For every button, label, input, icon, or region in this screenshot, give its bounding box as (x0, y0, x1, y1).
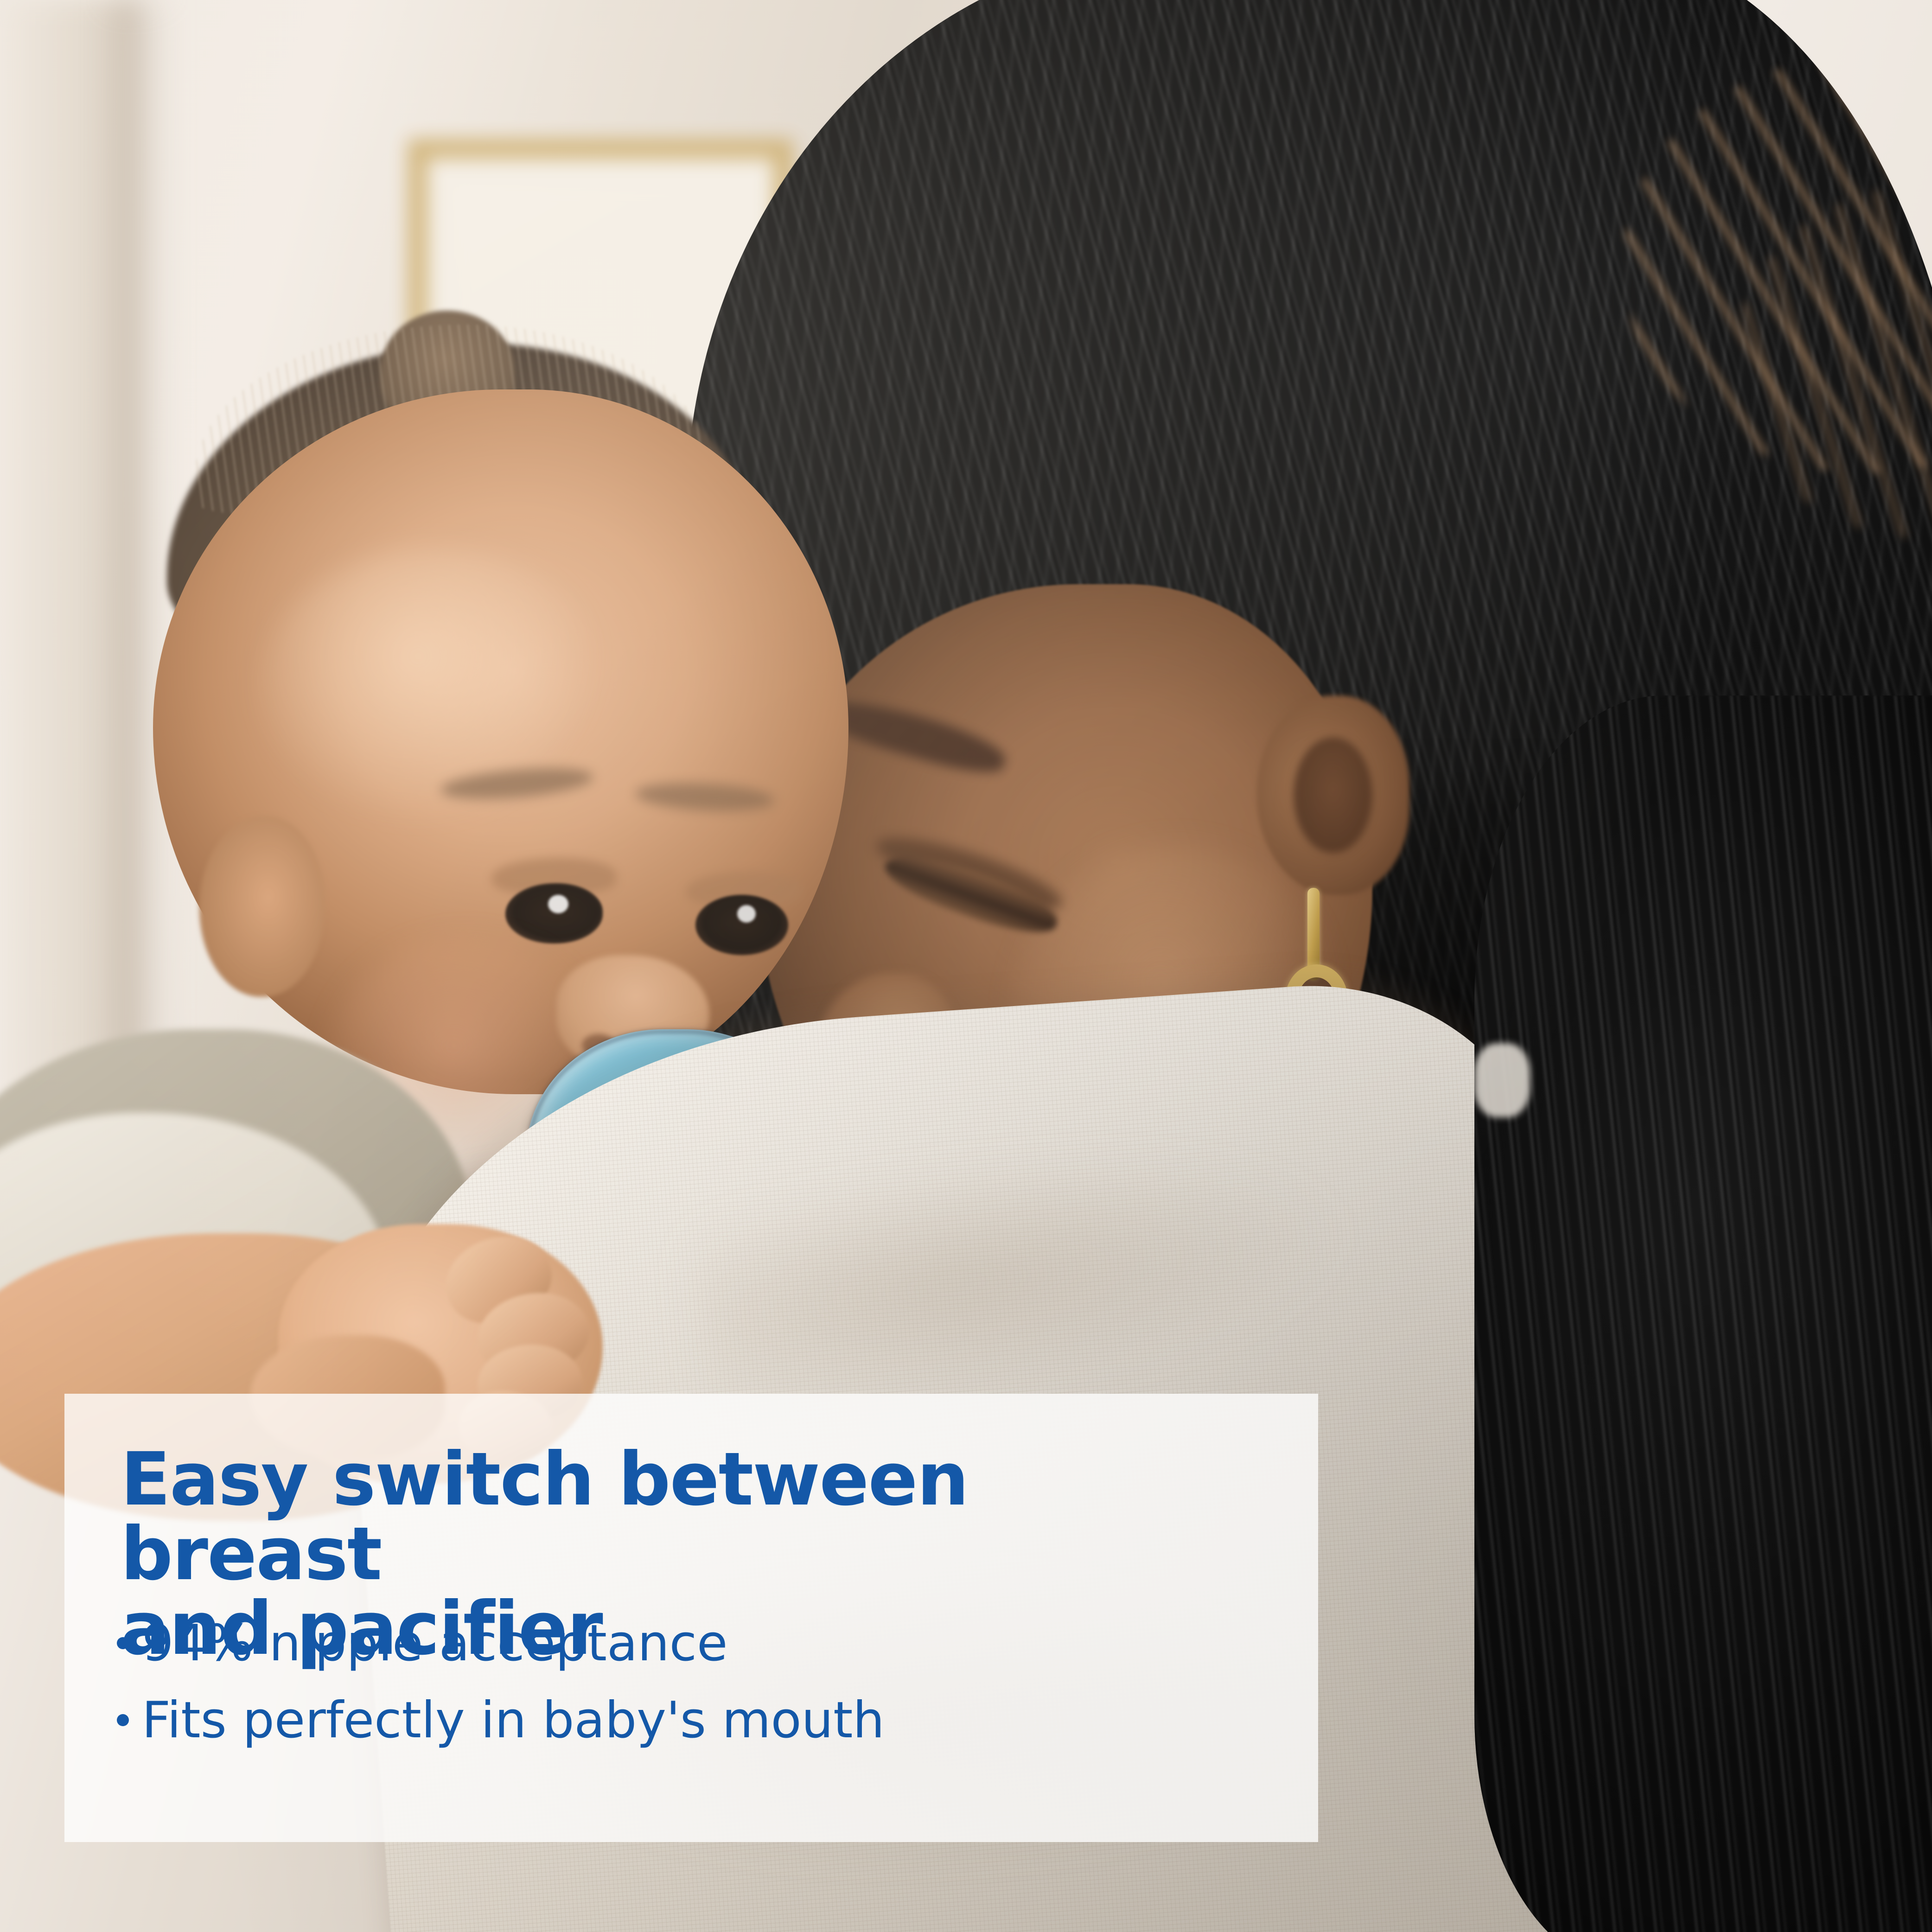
promo-image: Easy switch between breast and pacifier … (0, 0, 1932, 1932)
baby-ear (199, 816, 325, 997)
mother-ear-inner (1294, 737, 1372, 853)
wall-edge-shadow (116, 0, 172, 1113)
list-item: Fits perfectly in baby's mouth (117, 1696, 1239, 1746)
bullet-text: 94% nipple acceptance (142, 1619, 727, 1669)
baby-eye-right (695, 895, 788, 955)
mother-braids-foreground (1474, 695, 1932, 1932)
bullet-dot-icon (117, 1637, 129, 1649)
mother-collar (1474, 1043, 1530, 1117)
list-item: 94% nipple acceptance (117, 1619, 1239, 1669)
feature-bullet-list: 94% nipple acceptance Fits perfectly in … (117, 1619, 1239, 1773)
baby-eye-left (505, 883, 603, 944)
baby-eye-highlight-left (548, 895, 568, 913)
bullet-text: Fits perfectly in baby's mouth (142, 1696, 885, 1746)
text-overlay-panel: Easy switch between breast and pacifier … (64, 1394, 1318, 1842)
bullet-dot-icon (117, 1714, 129, 1726)
panel-content: Easy switch between breast and pacifier … (121, 1394, 1318, 1842)
braid-strands-foreground (1474, 695, 1932, 1932)
baby-eye-highlight-right (737, 905, 756, 923)
